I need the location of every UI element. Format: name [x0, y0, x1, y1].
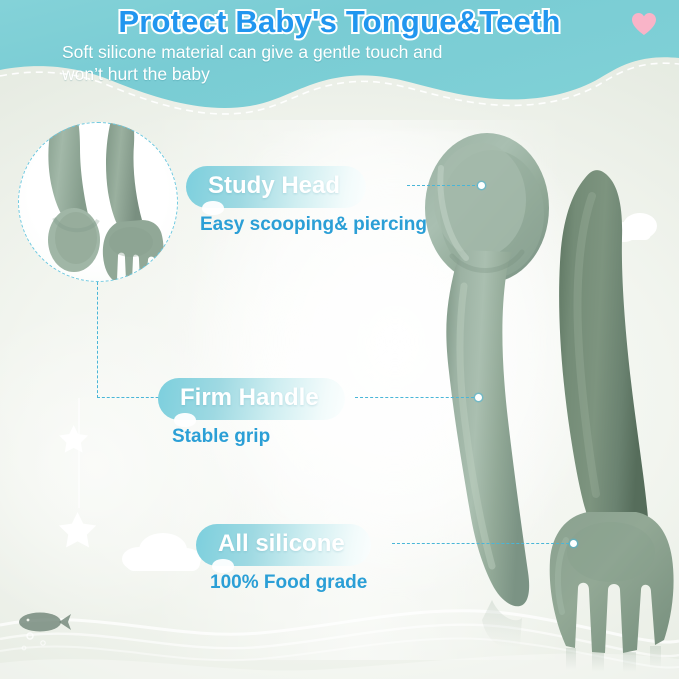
- page-title: Protect Baby's Tongue&Teeth: [0, 4, 679, 40]
- callout-firm-handle-pill[interactable]: Firm Handle: [158, 378, 345, 420]
- product-infographic: Protect Baby's Tongue&Teeth Soft silicon…: [0, 0, 679, 679]
- star-icon: [59, 512, 96, 548]
- callout-all-silicone-description: 100% Food grade: [210, 572, 371, 594]
- header-subtitle-line2: won’t hurt the baby: [62, 63, 622, 85]
- connector-firm-handle: [355, 397, 479, 398]
- callout-all-silicone[interactable]: All silicone 100% Food grade: [196, 524, 371, 594]
- callout-firm-handle-description: Stable grip: [172, 426, 345, 448]
- callout-study-head-pill[interactable]: Study Head: [186, 166, 366, 208]
- callout-study-head-label: Study Head: [208, 172, 340, 199]
- marker-dot-spoon-handle: [475, 394, 482, 401]
- cloud-icon: [544, 223, 568, 241]
- callout-firm-handle-label: Firm Handle: [180, 384, 319, 411]
- marker-dot-fork: [570, 540, 577, 547]
- star-icon: [59, 425, 88, 453]
- pill-tail-icon: [202, 201, 224, 215]
- pill-tail-icon: [174, 413, 196, 427]
- detail-circle-border: [18, 122, 178, 282]
- fish-icon: [18, 607, 72, 637]
- header-title-wrap: Protect Baby's Tongue&Teeth: [0, 0, 679, 44]
- marker-dot-spoon-bowl: [478, 182, 485, 189]
- connector-all-silicone: [392, 543, 574, 544]
- cloud-icon: [122, 533, 201, 571]
- callout-all-silicone-pill[interactable]: All silicone: [196, 524, 371, 566]
- connector-inset-vertical: [97, 282, 98, 398]
- header-subtitle: Soft silicone material can give a gentle…: [62, 41, 622, 85]
- heart-icon: [631, 12, 657, 36]
- header-subtitle-line1: Soft silicone material can give a gentle…: [62, 41, 622, 63]
- wave-lines: [0, 589, 679, 679]
- silicone-baby-spoon: [425, 133, 549, 648]
- callout-firm-handle[interactable]: Firm Handle Stable grip: [158, 378, 345, 448]
- pill-tail-icon: [212, 559, 234, 573]
- callout-study-head[interactable]: Study Head Easy scooping& piercing: [186, 166, 427, 236]
- cloud-icon: [611, 213, 657, 242]
- callout-all-silicone-label: All silicone: [218, 530, 345, 557]
- callout-study-head-description: Easy scooping& piercing: [200, 214, 427, 236]
